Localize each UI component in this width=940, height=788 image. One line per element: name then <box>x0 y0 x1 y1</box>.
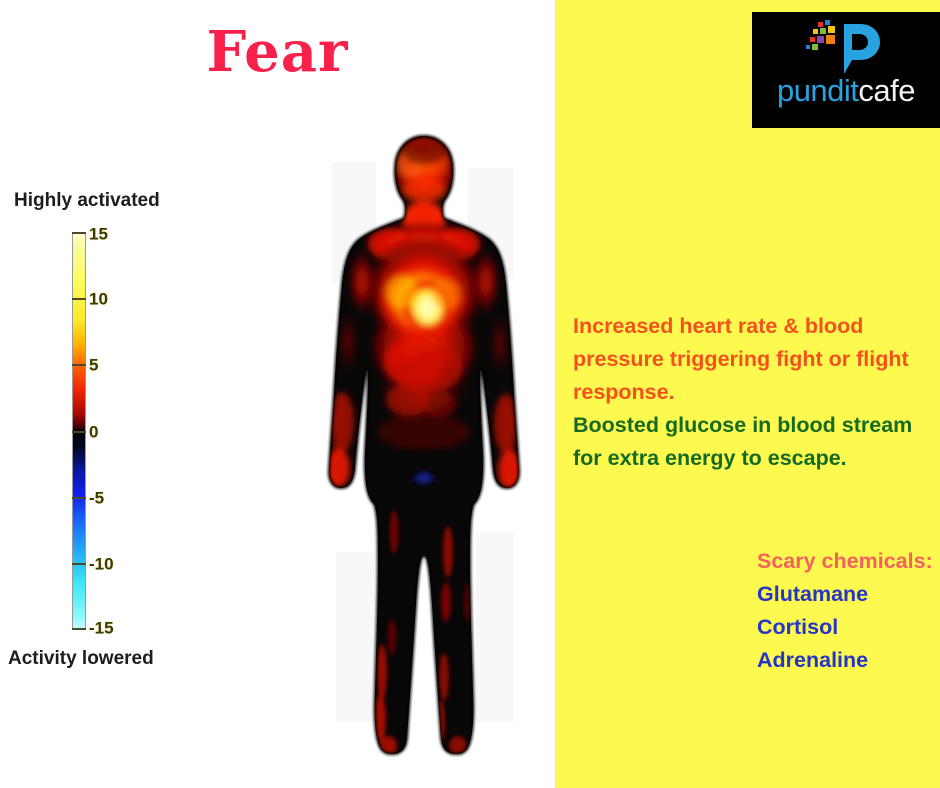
colorbar-tick-10 <box>72 298 86 300</box>
colorbar-tick-15 <box>72 232 86 234</box>
paragraph-line: pressure triggering fight or flight <box>573 343 940 376</box>
legend-top-caption: Highly activated <box>14 190 230 212</box>
chemical-item-cortisol: Cortisol <box>757 611 940 644</box>
chemicals-list: Scary chemicals: Glutamane Cortisol Adre… <box>757 545 940 677</box>
body-heatmap-image <box>318 132 530 764</box>
colorbar-label-minus-15: -15 <box>89 620 114 637</box>
logo-word-cafe: cafe <box>858 73 915 108</box>
page-title: Fear <box>0 24 555 80</box>
logo-wordmark: punditcafe <box>752 74 940 108</box>
logo-p-mark-icon <box>804 20 884 76</box>
paragraph-line: Boosted glucose in blood stream <box>573 409 940 442</box>
logo-word-pundit: pundit <box>777 73 858 108</box>
colorbar-label-10: 10 <box>89 291 108 308</box>
chemical-item-adrenaline: Adrenaline <box>757 644 940 677</box>
info-panel: punditcafe Increased heart rate & blood … <box>555 0 940 788</box>
colorbar-tick-0 <box>72 431 86 433</box>
chemical-item-glutamane: Glutamane <box>757 578 940 611</box>
colorbar-wrap: 15 10 5 0 -5 -10 -15 <box>0 232 200 632</box>
panel-description: Increased heart rate & blood pressure tr… <box>573 310 940 475</box>
colorbar-label-minus-10: -10 <box>89 556 114 573</box>
legend-bottom-caption: Activity lowered <box>8 648 230 670</box>
poster-canvas: Fear Highly activated 15 10 5 0 -5 -10 -… <box>0 0 940 788</box>
colorbar-tick-minus-10 <box>72 563 86 565</box>
punditcafe-logo[interactable]: punditcafe <box>752 12 940 128</box>
paragraph-line: for extra energy to escape. <box>573 442 940 475</box>
groin-blue-patch <box>411 470 437 486</box>
body-heatmap-svg <box>318 132 530 764</box>
colorbar-label-0: 0 <box>89 424 98 441</box>
colorbar-label-15: 15 <box>89 226 108 243</box>
colorbar-tick-5 <box>72 364 86 366</box>
paragraph-heart-rate: Increased heart rate & blood pressure tr… <box>573 310 940 409</box>
paragraph-line: response. <box>573 376 940 409</box>
paragraph-glucose: Boosted glucose in blood stream for extr… <box>573 409 940 475</box>
colorbar-label-5: 5 <box>89 357 98 374</box>
colorbar-tick-minus-15 <box>72 628 86 630</box>
paragraph-line: Increased heart rate & blood <box>573 310 940 343</box>
colorbar-legend: Highly activated 15 10 5 0 -5 -10 -15 Ac… <box>0 190 230 670</box>
colorbar-tick-minus-5 <box>72 497 86 499</box>
chemicals-heading: Scary chemicals: <box>757 545 940 578</box>
colorbar-label-minus-5: -5 <box>89 490 104 507</box>
